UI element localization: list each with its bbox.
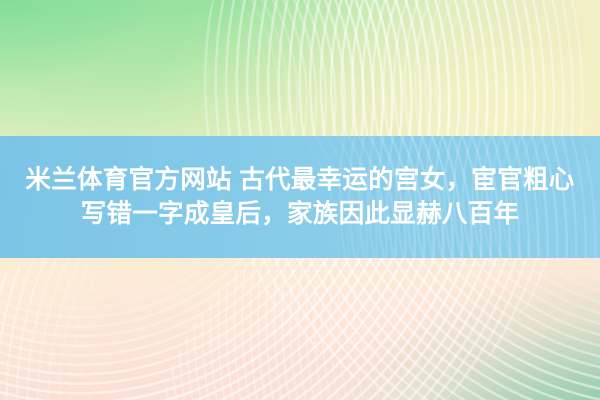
banner-title-line-2: 写错一字成皇后，家族因此显赫八百年 — [81, 198, 520, 231]
title-band: 米兰体育官方网站 古代最幸运的宫女，宦官粗心 写错一字成皇后，家族因此显赫八百年 — [0, 136, 600, 258]
banner-title-line-1: 米兰体育官方网站 古代最幸运的宫女，宦官粗心 — [25, 164, 574, 197]
promo-banner: 米兰体育官方网站 古代最幸运的宫女，宦官粗心 写错一字成皇后，家族因此显赫八百年 — [0, 0, 600, 400]
